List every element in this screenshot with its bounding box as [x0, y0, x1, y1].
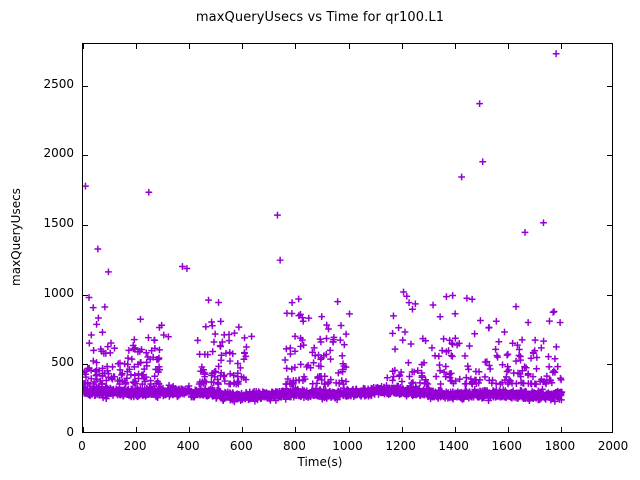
chart-title: maxQueryUsecs vs Time for qr100.L1 [0, 10, 640, 25]
x-axis-tick-top [295, 44, 296, 49]
x-axis-tick-label: 200 [105, 439, 165, 453]
y-axis-title: maxQueryUsecs [9, 137, 23, 337]
y-axis-tick-right [607, 364, 612, 365]
plot-area [82, 43, 613, 433]
y-axis-tick-right [607, 295, 612, 296]
x-axis-tick-label: 1800 [530, 439, 590, 453]
scatter-points-layer [83, 44, 612, 432]
x-axis-tick-top [136, 44, 137, 49]
x-axis-tick-label: 1400 [424, 439, 484, 453]
y-axis-tick-label: 500 [14, 355, 74, 369]
x-axis-tick-label: 1000 [318, 439, 378, 453]
x-axis-tick-top [455, 44, 456, 49]
x-axis-tick-top [402, 44, 403, 49]
y-axis-tick [83, 155, 88, 156]
y-axis-tick-label: 0 [14, 425, 74, 439]
x-axis-tick-top [83, 44, 84, 49]
chart-canvas: maxQueryUsecs vs Time for qr100.L1 maxQu… [0, 0, 640, 480]
y-axis-tick-right [607, 225, 612, 226]
x-axis-tick [455, 427, 456, 432]
x-axis-tick [242, 427, 243, 432]
x-axis-tick-label: 400 [158, 439, 218, 453]
y-axis-tick [83, 364, 88, 365]
x-axis-tick [136, 427, 137, 432]
x-axis-tick [189, 427, 190, 432]
y-axis-tick-right [607, 155, 612, 156]
x-axis-tick [402, 427, 403, 432]
y-axis-tick-label: 1500 [14, 216, 74, 230]
x-axis-tick-top [561, 44, 562, 49]
x-axis-tick [295, 427, 296, 432]
x-axis-tick-top [349, 44, 350, 49]
y-axis-tick-right [607, 86, 612, 87]
y-axis-tick [83, 295, 88, 296]
x-axis-tick-label: 2000 [583, 439, 640, 453]
y-axis-tick [83, 86, 88, 87]
y-axis-tick-label: 2000 [14, 146, 74, 160]
y-axis-tick-label: 2500 [14, 77, 74, 91]
x-axis-title: Time(s) [0, 455, 640, 469]
x-axis-tick-top [189, 44, 190, 49]
x-axis-tick-label: 800 [264, 439, 324, 453]
x-axis-tick-label: 1200 [371, 439, 431, 453]
x-axis-tick [349, 427, 350, 432]
x-axis-tick-top [508, 44, 509, 49]
x-axis-tick-top [242, 44, 243, 49]
x-axis-tick-label: 1600 [477, 439, 537, 453]
y-axis-tick-label: 1000 [14, 286, 74, 300]
x-axis-tick [508, 427, 509, 432]
x-axis-tick [561, 427, 562, 432]
x-axis-tick [83, 427, 84, 432]
x-axis-tick-label: 600 [211, 439, 271, 453]
x-axis-tick-label: 0 [52, 439, 112, 453]
y-axis-tick [83, 225, 88, 226]
